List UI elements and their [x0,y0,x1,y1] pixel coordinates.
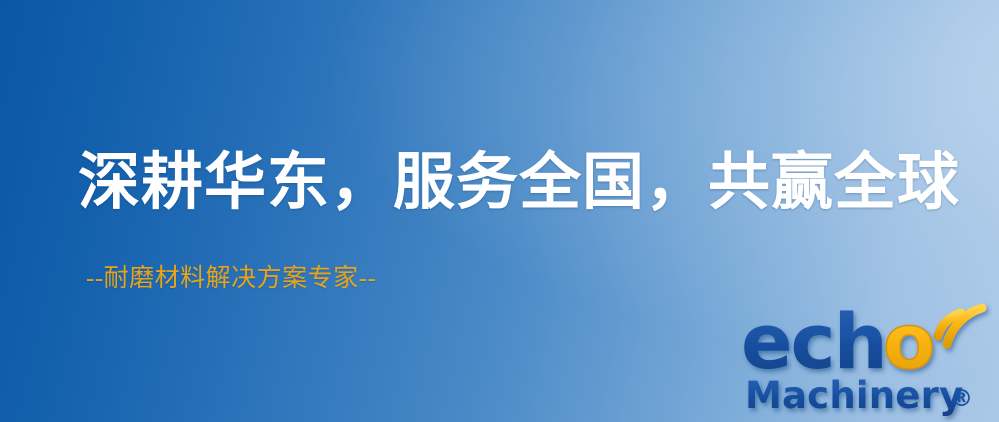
hero-banner: 深耕华东，服务全国，共赢全球 --耐磨材料解决方案专家-- [0,0,999,422]
echo-machinery-logo[interactable]: ech o Machinery ® [735,292,993,420]
signal-waves-icon [938,308,982,344]
logo-text-o: o [883,297,935,386]
registered-trademark-icon: ® [950,386,973,412]
tagline: --耐磨材料解决方案专家-- [86,265,376,293]
logo-text-ech: ech [741,297,886,386]
page-title: 深耕华东，服务全国，共赢全球 [78,152,960,215]
logo-text-machinery: Machinery [745,374,963,417]
